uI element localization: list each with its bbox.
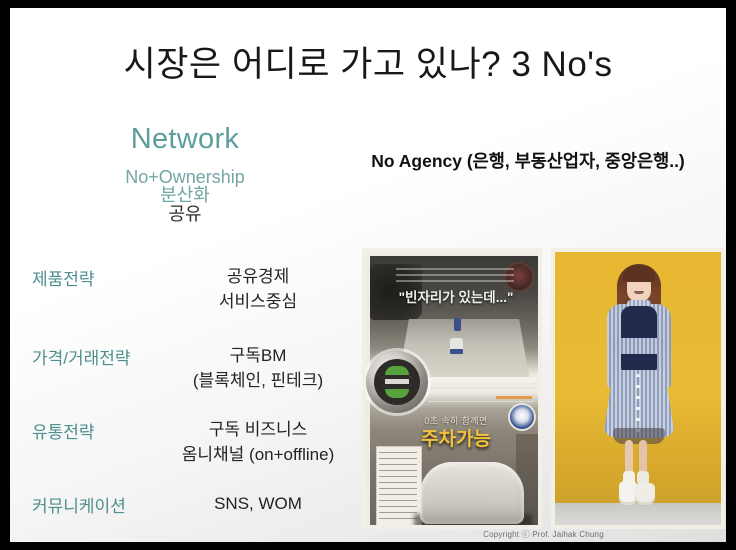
strategy-value: 구독 비즈니스 (158, 418, 358, 443)
fashion-model-photo (551, 248, 725, 529)
logo-arc-top-icon (385, 366, 409, 375)
strategy-values-channel: 구독 비즈니스 옴니채널 (on+offline) (158, 418, 358, 467)
photo-description-accent (496, 396, 532, 399)
no-agency-heading: No Agency (은행, 부동산업자, 중앙은행..) (332, 148, 724, 173)
network-concept-block: Network No+Ownership 분산화 공유 (40, 123, 330, 224)
parking-photo-canvas: "빈자리가 있는데..." 0초 속히 함께면 주차가능 (370, 256, 542, 529)
model-bangs-shape (623, 266, 655, 282)
network-subtitle-decentralization: 분산화 (40, 186, 330, 205)
strategy-value: (블록체인, 핀테크) (158, 369, 358, 394)
photo-caption-small-text (396, 268, 514, 284)
strategy-values-price: 구독BM (블록체인, 핀테크) (158, 344, 358, 393)
notice-board-text-lines (379, 452, 417, 522)
strategy-label-communication: 커뮤니케이션 (32, 492, 126, 517)
model-mouth-shape (634, 291, 644, 294)
strategy-label-product: 제품전략 (32, 265, 95, 290)
video-letterbox-frame: 시장은 어디로 가고 있나? 3 No's Network No+Ownersh… (0, 0, 736, 550)
strategy-value: 서비스중심 (158, 290, 358, 315)
strategy-values-communication: SNS, WOM (158, 492, 358, 517)
model-crossed-arms-shape (611, 338, 667, 354)
strategy-label-price: 가격/거래전략 (32, 344, 131, 369)
model-button-placket-shape (636, 374, 640, 434)
network-subtitle-no-ownership: No+Ownership (40, 168, 330, 186)
network-heading: Network (40, 123, 330, 156)
network-subtitle-sharing: 공유 (40, 205, 330, 224)
parking-app-photo: "빈자리가 있는데..." 0초 속히 함께면 주차가능 (362, 248, 542, 529)
page-title: 시장은 어디로 가고 있나? 3 No's (10, 36, 726, 87)
strategy-values-product: 공유경제 서비스중심 (158, 265, 358, 314)
traffic-cone-top (454, 318, 461, 331)
photo-description-text-block (428, 387, 534, 402)
presentation-slide: 시장은 어디로 가고 있나? 3 No's Network No+Ownersh… (10, 8, 726, 542)
copyright-notice: Copyright ⓒ Prof. Jaihak Chung (362, 529, 725, 540)
studio-floor-shape (555, 503, 721, 525)
strategy-label-channel: 유통전략 (32, 418, 95, 443)
strategy-value: SNS, WOM (158, 492, 358, 517)
covered-car-shape (420, 462, 524, 524)
strategy-value: 공유경제 (158, 265, 358, 290)
logo-center-bar-icon (382, 376, 412, 387)
parking-quote-text: "빈자리가 있는데..." (370, 286, 542, 306)
strategy-value: 옴니채널 (on+offline) (158, 443, 358, 468)
strategy-value: 구독BM (158, 344, 358, 369)
traffic-cone-band (450, 349, 463, 354)
model-right-shoe-shape (635, 483, 655, 505)
